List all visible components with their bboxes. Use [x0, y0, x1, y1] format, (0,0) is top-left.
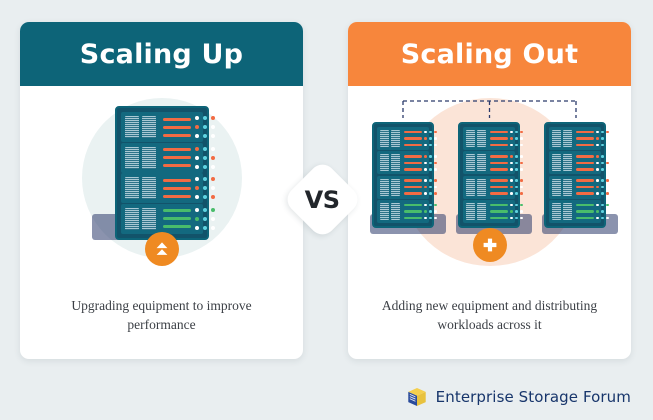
status-bar: [576, 144, 594, 147]
drive-bay: [125, 208, 139, 230]
status-bar: [490, 144, 508, 147]
led-indicator: [601, 162, 604, 165]
led-indicator: [520, 179, 523, 182]
led-group: [424, 179, 437, 195]
drive-bay-group: [125, 208, 156, 230]
led-row: [596, 155, 609, 158]
led-indicator: [520, 137, 523, 140]
status-bar: [404, 210, 422, 213]
led-row: [195, 195, 215, 199]
status-bar-group: [576, 179, 594, 195]
led-row: [596, 210, 609, 213]
status-bar: [576, 131, 594, 134]
led-indicator: [195, 217, 199, 221]
led-indicator: [424, 162, 427, 165]
drive-bay: [552, 203, 561, 220]
led-indicator: [429, 192, 432, 195]
rack-unit: [463, 127, 515, 150]
led-indicator: [596, 155, 599, 158]
led-indicator: [424, 137, 427, 140]
led-indicator: [211, 147, 215, 151]
drive-bay: [477, 154, 486, 171]
led-indicator: [606, 217, 609, 220]
led-indicator: [601, 204, 604, 207]
led-indicator: [211, 125, 215, 129]
led-indicator: [520, 168, 523, 171]
led-group: [424, 204, 437, 220]
drive-bay: [552, 154, 561, 171]
led-row: [510, 204, 523, 207]
status-bar-group: [404, 155, 422, 171]
led-indicator: [601, 210, 604, 213]
led-indicator: [510, 217, 513, 220]
drive-bay-group: [466, 130, 486, 147]
led-row: [510, 137, 523, 140]
status-bar: [576, 168, 594, 171]
status-bar: [163, 134, 191, 137]
drive-bay-group: [380, 154, 400, 171]
led-indicator: [596, 137, 599, 140]
status-bar: [404, 144, 422, 147]
led-indicator: [203, 217, 207, 221]
led-row: [510, 144, 523, 147]
led-row: [195, 226, 215, 230]
drive-bay: [563, 203, 572, 220]
status-bar: [576, 210, 594, 213]
drive-bay-group: [552, 130, 572, 147]
status-bar: [576, 155, 594, 158]
stacked-layers-logo-icon: [406, 386, 428, 408]
led-indicator: [211, 208, 215, 212]
drive-bay-group: [125, 147, 156, 169]
status-bar: [490, 192, 508, 195]
drive-bay: [466, 203, 475, 220]
led-indicator: [510, 137, 513, 140]
status-bar: [490, 204, 508, 207]
led-indicator: [596, 162, 599, 165]
footer-brand: Enterprise Storage Forum: [406, 386, 631, 408]
led-row: [596, 137, 609, 140]
drive-bay-group: [552, 203, 572, 220]
status-bar: [163, 187, 191, 190]
led-indicator: [596, 144, 599, 147]
drive-bay: [563, 179, 572, 196]
led-group: [510, 131, 523, 147]
led-indicator: [606, 144, 609, 147]
led-indicator: [211, 226, 215, 230]
rack-unit: [377, 151, 429, 174]
led-indicator: [510, 155, 513, 158]
status-bar: [490, 210, 508, 213]
led-indicator: [596, 192, 599, 195]
led-indicator: [596, 131, 599, 134]
drive-bay: [391, 154, 400, 171]
panel-title: Scaling Up: [80, 39, 243, 70]
led-indicator: [515, 192, 518, 195]
status-bar: [404, 204, 422, 207]
led-indicator: [211, 217, 215, 221]
led-row: [596, 131, 609, 134]
status-bar: [404, 192, 422, 195]
led-indicator: [195, 208, 199, 212]
rack-unit: [377, 127, 429, 150]
drive-bay: [466, 130, 475, 147]
drive-bay: [380, 154, 389, 171]
status-bar: [576, 186, 594, 189]
led-indicator: [434, 155, 437, 158]
led-row: [596, 179, 609, 182]
led-indicator: [203, 134, 207, 138]
status-bar-group: [404, 131, 422, 147]
status-bar: [404, 137, 422, 140]
rack-unit: [463, 176, 515, 199]
led-row: [195, 134, 215, 138]
status-bar: [576, 162, 594, 165]
led-row: [424, 179, 437, 182]
led-row: [596, 204, 609, 207]
status-bar: [163, 156, 191, 159]
drive-bay-group: [125, 116, 156, 138]
status-bar-group: [490, 131, 508, 147]
drive-bay: [391, 130, 400, 147]
led-row: [424, 168, 437, 171]
led-indicator: [434, 168, 437, 171]
led-indicator: [195, 125, 199, 129]
led-row: [596, 144, 609, 147]
status-bar-group: [404, 204, 422, 220]
led-indicator: [510, 162, 513, 165]
drive-bay: [391, 179, 400, 196]
led-indicator: [203, 186, 207, 190]
status-bar-group: [490, 179, 508, 195]
led-row: [195, 217, 215, 221]
rack-unit: [121, 204, 203, 234]
led-indicator: [195, 165, 199, 169]
led-indicator: [424, 186, 427, 189]
panel-title: Scaling Out: [401, 39, 578, 70]
led-indicator: [195, 116, 199, 120]
status-bar: [163, 164, 191, 167]
led-indicator: [434, 217, 437, 220]
status-bar: [163, 126, 191, 129]
led-indicator: [606, 131, 609, 134]
led-indicator: [601, 179, 604, 182]
rack-connector-dashed-line: [348, 86, 631, 122]
rack-unit: [377, 176, 429, 199]
led-indicator: [424, 204, 427, 207]
led-indicator: [203, 195, 207, 199]
status-bar: [490, 179, 508, 182]
led-row: [424, 137, 437, 140]
led-row: [424, 192, 437, 195]
led-indicator: [424, 168, 427, 171]
led-row: [510, 186, 523, 189]
led-indicator: [195, 195, 199, 199]
led-indicator: [429, 168, 432, 171]
drive-bay: [142, 147, 156, 169]
led-indicator: [606, 162, 609, 165]
led-indicator: [211, 195, 215, 199]
status-bar: [490, 186, 508, 189]
led-row: [510, 155, 523, 158]
status-bar: [404, 217, 422, 220]
scaling-up-badge: [145, 232, 179, 266]
led-indicator: [211, 177, 215, 181]
led-row: [195, 165, 215, 169]
status-bar: [163, 225, 191, 228]
status-bar: [490, 131, 508, 134]
drive-bay: [142, 177, 156, 199]
led-indicator: [520, 144, 523, 147]
drive-bay-group: [466, 154, 486, 171]
led-group: [195, 147, 215, 169]
led-indicator: [434, 144, 437, 147]
drive-bay-group: [466, 179, 486, 196]
led-indicator: [429, 204, 432, 207]
led-indicator: [429, 144, 432, 147]
rack-unit: [463, 151, 515, 174]
led-indicator: [434, 186, 437, 189]
drive-bay: [380, 179, 389, 196]
illustration-scaling-up: [20, 86, 303, 286]
led-indicator: [429, 131, 432, 134]
drive-bay: [477, 203, 486, 220]
led-row: [424, 186, 437, 189]
status-bar: [490, 162, 508, 165]
panel-header-scaling-up: Scaling Up: [20, 22, 303, 86]
led-group: [596, 131, 609, 147]
led-indicator: [211, 134, 215, 138]
led-indicator: [510, 210, 513, 213]
status-bar-group: [576, 204, 594, 220]
panel-caption: Adding new equipment and distributing wo…: [348, 296, 631, 335]
led-indicator: [424, 217, 427, 220]
led-indicator: [515, 179, 518, 182]
led-indicator: [601, 217, 604, 220]
status-bar: [163, 179, 191, 182]
rack-unit: [463, 200, 515, 223]
status-bar: [404, 168, 422, 171]
drive-bay-group: [380, 130, 400, 147]
led-row: [195, 186, 215, 190]
led-indicator: [515, 186, 518, 189]
led-indicator: [434, 192, 437, 195]
led-indicator: [203, 165, 207, 169]
led-indicator: [515, 131, 518, 134]
led-indicator: [596, 210, 599, 213]
infographic-stage: Scaling Up: [0, 0, 653, 420]
status-bar: [576, 192, 594, 195]
led-group: [510, 204, 523, 220]
led-row: [195, 156, 215, 160]
drive-bay: [125, 147, 139, 169]
led-indicator: [596, 186, 599, 189]
footer-brand-text: Enterprise Storage Forum: [436, 388, 631, 406]
rack-unit: [121, 143, 203, 173]
led-indicator: [211, 116, 215, 120]
status-bar: [490, 168, 508, 171]
rack-unit: [549, 176, 601, 199]
led-indicator: [606, 168, 609, 171]
led-indicator: [429, 217, 432, 220]
led-group: [510, 155, 523, 171]
led-indicator: [520, 217, 523, 220]
drive-bay-group: [380, 203, 400, 220]
status-bar: [404, 186, 422, 189]
led-indicator: [434, 137, 437, 140]
drive-bay: [477, 130, 486, 147]
led-row: [510, 192, 523, 195]
led-indicator: [429, 137, 432, 140]
led-indicator: [510, 144, 513, 147]
led-indicator: [510, 204, 513, 207]
led-indicator: [601, 168, 604, 171]
led-row: [424, 144, 437, 147]
led-indicator: [515, 204, 518, 207]
drive-bay-group: [552, 154, 572, 171]
led-indicator: [434, 204, 437, 207]
led-row: [510, 179, 523, 182]
led-indicator: [515, 217, 518, 220]
drive-bay: [466, 154, 475, 171]
status-bar: [490, 137, 508, 140]
led-indicator: [211, 156, 215, 160]
plus-icon: [480, 235, 500, 255]
status-bar: [163, 195, 191, 198]
led-indicator: [195, 226, 199, 230]
status-bar-group: [163, 179, 191, 198]
led-indicator: [601, 186, 604, 189]
led-group: [195, 208, 215, 230]
status-bar: [163, 217, 191, 220]
led-indicator: [203, 116, 207, 120]
led-group: [195, 116, 215, 138]
status-bar: [490, 155, 508, 158]
led-row: [596, 162, 609, 165]
led-indicator: [434, 162, 437, 165]
led-indicator: [203, 226, 207, 230]
led-row: [195, 208, 215, 212]
drive-bay: [563, 130, 572, 147]
led-row: [510, 162, 523, 165]
status-bar-group: [163, 209, 191, 228]
led-indicator: [203, 177, 207, 181]
server-rack: [458, 122, 520, 228]
server-rack: [544, 122, 606, 228]
vs-label: VS: [305, 185, 340, 213]
drive-bay: [552, 179, 561, 196]
led-indicator: [515, 162, 518, 165]
led-indicator: [211, 165, 215, 169]
led-indicator: [520, 192, 523, 195]
drive-bay: [477, 179, 486, 196]
led-group: [596, 204, 609, 220]
led-indicator: [515, 168, 518, 171]
led-indicator: [195, 147, 199, 151]
led-indicator: [424, 144, 427, 147]
status-bar-group: [163, 148, 191, 167]
led-indicator: [601, 192, 604, 195]
led-row: [424, 204, 437, 207]
rack-unit: [549, 127, 601, 150]
led-indicator: [606, 192, 609, 195]
status-bar: [404, 131, 422, 134]
led-indicator: [520, 210, 523, 213]
led-indicator: [601, 131, 604, 134]
led-group: [596, 179, 609, 195]
led-group: [195, 177, 215, 199]
led-indicator: [520, 155, 523, 158]
rack-unit: [549, 151, 601, 174]
led-indicator: [606, 204, 609, 207]
led-indicator: [606, 137, 609, 140]
led-indicator: [195, 134, 199, 138]
led-indicator: [606, 179, 609, 182]
led-row: [510, 131, 523, 134]
led-indicator: [520, 204, 523, 207]
led-indicator: [596, 168, 599, 171]
led-row: [195, 125, 215, 129]
rack-unit: [549, 200, 601, 223]
led-indicator: [203, 208, 207, 212]
drive-bay: [552, 130, 561, 147]
status-bar: [576, 179, 594, 182]
led-indicator: [211, 186, 215, 190]
led-indicator: [424, 155, 427, 158]
led-indicator: [424, 179, 427, 182]
server-rack: [115, 106, 209, 240]
led-row: [424, 210, 437, 213]
drive-bay: [125, 177, 139, 199]
panel-body-scaling-out: Adding new equipment and distributing wo…: [348, 86, 631, 359]
status-bar-group: [404, 179, 422, 195]
led-indicator: [520, 186, 523, 189]
led-indicator: [606, 210, 609, 213]
led-indicator: [434, 131, 437, 134]
status-bar: [576, 204, 594, 207]
led-row: [596, 186, 609, 189]
status-bar-group: [163, 118, 191, 137]
status-bar: [404, 155, 422, 158]
drive-bay-group: [466, 203, 486, 220]
rack-unit: [121, 112, 203, 142]
double-chevron-up-icon: [152, 239, 172, 259]
drive-bay: [142, 208, 156, 230]
led-indicator: [606, 186, 609, 189]
led-indicator: [515, 137, 518, 140]
panel-body-scaling-up: Upgrading equipment to improve performan…: [20, 86, 303, 359]
led-indicator: [434, 210, 437, 213]
led-row: [424, 162, 437, 165]
scaling-out-badge: [473, 228, 507, 262]
led-indicator: [510, 186, 513, 189]
led-indicator: [424, 131, 427, 134]
led-indicator: [434, 179, 437, 182]
led-row: [596, 168, 609, 171]
drive-bay: [380, 203, 389, 220]
status-bar-group: [490, 204, 508, 220]
led-indicator: [601, 137, 604, 140]
drive-bay-group: [380, 179, 400, 196]
status-bar: [163, 118, 191, 121]
led-row: [195, 147, 215, 151]
status-bar: [576, 217, 594, 220]
led-indicator: [203, 147, 207, 151]
drive-bay: [563, 154, 572, 171]
led-row: [596, 192, 609, 195]
led-row: [510, 217, 523, 220]
led-indicator: [606, 155, 609, 158]
